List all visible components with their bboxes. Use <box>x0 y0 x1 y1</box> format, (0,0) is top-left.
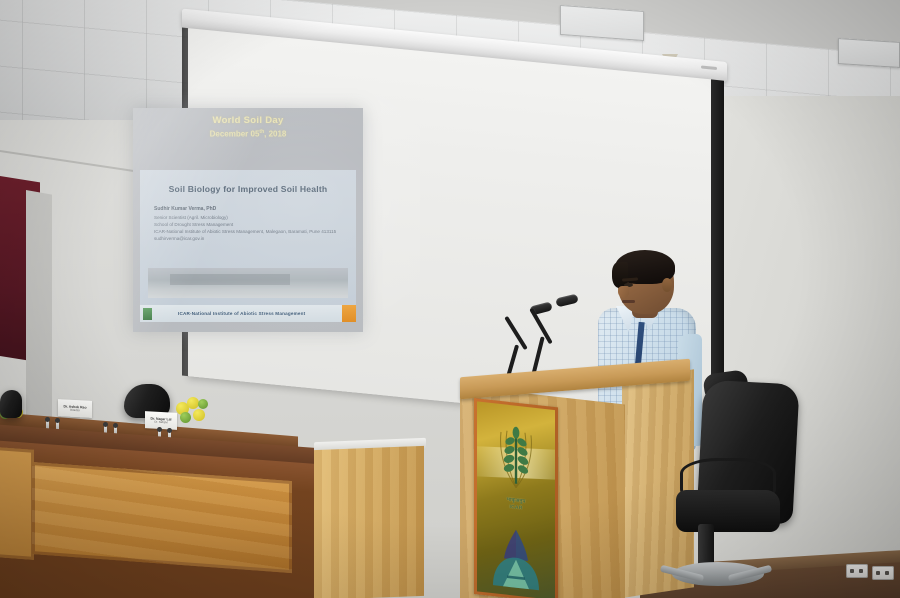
slide-photo <box>148 268 348 298</box>
slide-date-prefix: December 05 <box>210 130 260 139</box>
slide-title: World Soil Day <box>133 115 363 126</box>
podium-plaque-frame: भाकृअनुप ICAR <box>474 398 558 598</box>
slide-speaker-line5: sudhirverma@icar.gov.in <box>154 235 356 242</box>
slide-speaker-line2: Senior Scientist (Agril. Microbiology) <box>154 214 356 221</box>
slide-footer-accent <box>342 305 356 322</box>
speaker-mouth <box>622 300 635 303</box>
ceiling-vent-panel-4 <box>838 38 900 68</box>
podium: भाकृअनुप ICAR <box>452 368 700 598</box>
chair-seat <box>676 490 780 532</box>
slide-speaker-name: Sudhir Kumar Verma, PhD <box>154 206 356 214</box>
slide-author-block: Sudhir Kumar Verma, PhD Senior Scientist… <box>154 206 356 242</box>
slide-date-suffix: , 2018 <box>264 130 286 139</box>
left-wall-strip <box>26 190 52 445</box>
slide-footer-text: ICAR-National Institute of Abiotic Stres… <box>178 311 305 316</box>
side-lectern <box>314 446 424 598</box>
podium-emblem-text: भाकृअनुप ICAR <box>477 493 555 516</box>
power-socket-1[interactable] <box>846 564 868 578</box>
dais-side-panel <box>0 446 34 560</box>
slide-heading: Soil Biology for Improved Soil Health <box>140 184 356 194</box>
icar-wheat-emblem-icon <box>490 415 542 497</box>
slide-speaker-line4: ICAR-National Institute of Abiotic Stres… <box>154 228 356 235</box>
niasm-logo-icon <box>485 522 547 595</box>
nameplate-2-role: Dr. NIASM <box>154 421 167 425</box>
power-socket-2[interactable] <box>872 566 894 580</box>
slide-speaker-line3: School of Drought Stress Management <box>154 221 356 228</box>
speaker-ear <box>662 278 672 292</box>
projected-slide: World Soil Day December 05th, 2018 Soil … <box>133 108 363 332</box>
ceiling-vent-panel-3 <box>560 5 644 41</box>
slide-footer: ICAR-National Institute of Abiotic Stres… <box>140 305 356 322</box>
slide-date: December 05th, 2018 <box>133 129 363 139</box>
auditorium-scene: World Soil Day December 05th, 2018 Soil … <box>0 0 900 598</box>
slide-footer-mark-icon <box>143 308 152 320</box>
podium-plaque: भाकृअनुप ICAR <box>477 401 555 598</box>
nameplate-1-role: Director <box>70 409 80 413</box>
dais-main-panel <box>32 462 292 573</box>
slide-body: Soil Biology for Improved Soil Health Su… <box>140 170 356 322</box>
speaker-nose <box>618 286 629 298</box>
nameplate-1: Dr. Ashok Rao Director <box>58 399 92 418</box>
